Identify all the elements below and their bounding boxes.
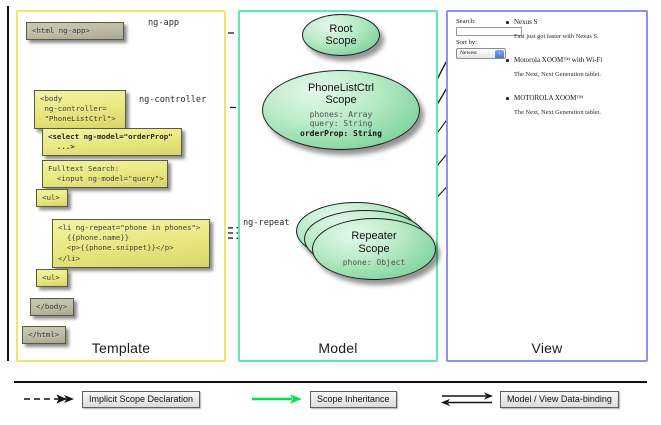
view-browser-mock: Search: Sort by: Newest ↕ Nexus S Fast j… [452, 16, 642, 340]
scope-phonelistctrl: PhoneListCtrl Scope phones: Array query:… [262, 70, 420, 150]
code-box-body-close: </body> [30, 298, 74, 316]
phone-snippet: Fast just got faster with Nexus S. [514, 33, 640, 40]
legend-scope-inheritance: Scope Inheritance [250, 390, 397, 408]
search-input[interactable] [456, 27, 522, 36]
phone-snippet: The Next, Next Generation tablet. [514, 109, 640, 116]
legend-implicit-label: Implicit Scope Declaration [82, 391, 200, 408]
code-box-ul-close: <ul> [36, 269, 68, 287]
sort-by-select[interactable]: Newest ↕ [456, 48, 506, 59]
chevron-updown-icon: ↕ [495, 50, 504, 59]
scope-phonelistctrl-properties: phones: Array query: String orderProp: S… [300, 110, 382, 139]
scope-root: Root Scope [302, 14, 380, 56]
scope-repeater: Repeater Scope phone: Object [312, 218, 436, 280]
scope-root-title-line-1: Root [329, 23, 352, 36]
code-box-html-close: </html> [22, 326, 66, 344]
scope-property-phones: phones: Array [300, 110, 382, 120]
code-box-ul-open: <ul> [36, 189, 68, 207]
left-frame-rule [7, 6, 9, 361]
legend-inheritance-label: Scope Inheritance [310, 391, 397, 408]
scope-property-phone: phone: Object [343, 258, 406, 268]
dashed-arrow-icon [22, 391, 76, 407]
diagram-canvas: Template Model View <html ng-app> <body … [0, 0, 661, 425]
scope-repeater-title-line-2: Scope [358, 243, 389, 256]
scope-root-title-line-2: Scope [325, 35, 356, 48]
edge-label-ng-repeat: ng-repeat [243, 218, 290, 228]
panel-model: Model [238, 10, 438, 362]
code-box-select: <select ng-model="orderProp" ...> [42, 128, 182, 156]
code-box-input: Fulltext Search: <input ng-model="query"… [42, 160, 168, 188]
sort-by-label: Sort by: [456, 39, 477, 46]
legend-binding-label: Model / View Data-binding [500, 391, 619, 408]
panel-label-model: Model [240, 340, 436, 356]
panel-label-view: View [448, 340, 646, 356]
search-label: Search: [456, 18, 476, 25]
edge-label-ng-app: ng-app [148, 18, 179, 28]
legend-divider [14, 381, 647, 383]
phone-name: Motorola XOOM™ with Wi-Fi [514, 56, 640, 64]
scope-phonelistctrl-title-line-1: PhoneListCtrl [308, 82, 374, 95]
sort-by-selected-value: Newest [460, 50, 477, 56]
code-box-body-open: <body ng-controller= "PhoneListCtrl"> [34, 90, 126, 129]
green-arrow-icon [250, 391, 304, 407]
double-arrow-icon [440, 391, 494, 407]
bullet-icon [506, 97, 509, 100]
scope-repeater-properties: phone: Object [343, 258, 406, 268]
scope-repeater-title-line-1: Repeater [351, 230, 396, 243]
scope-property-query: query: String [300, 119, 382, 129]
bullet-icon [506, 59, 509, 62]
edge-label-ng-controller: ng-controller [139, 95, 206, 105]
legend-model-view-data-binding: Model / View Data-binding [440, 390, 619, 408]
code-box-li-repeat: <li ng-repeat="phone in phones"> {{phone… [52, 219, 210, 268]
phone-list-item[interactable]: MOTOROLA XOOM™ The Next, Next Generation… [514, 94, 640, 116]
phone-name: MOTOROLA XOOM™ [514, 94, 640, 102]
scope-phonelistctrl-title-line-2: Scope [325, 94, 356, 107]
phone-list-item[interactable]: Motorola XOOM™ with Wi-Fi The Next, Next… [514, 56, 640, 78]
phone-name: Nexus S [514, 18, 640, 26]
phone-list-item[interactable]: Nexus S Fast just got faster with Nexus … [514, 18, 640, 40]
scope-property-orderprop: orderProp: String [300, 129, 382, 139]
code-box-html-open: <html ng-app> [26, 22, 124, 40]
bullet-icon [506, 21, 509, 24]
legend-implicit-scope-declaration: Implicit Scope Declaration [22, 390, 200, 408]
phone-snippet: The Next, Next Generation tablet. [514, 71, 640, 78]
